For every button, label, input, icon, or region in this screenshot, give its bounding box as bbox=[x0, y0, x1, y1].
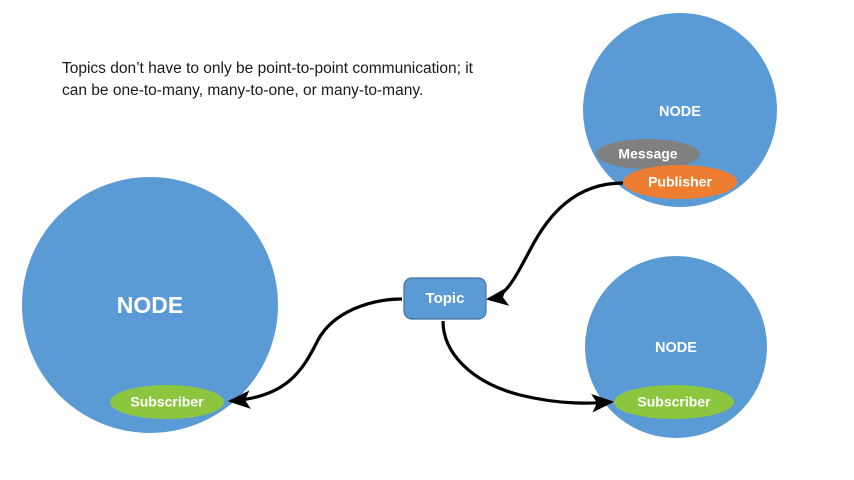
message-bubble-label: Message bbox=[618, 146, 677, 162]
publisher-label: Publisher bbox=[648, 174, 712, 190]
subscriber-left-pill[interactable]: Subscriber bbox=[110, 385, 224, 419]
topic-box[interactable]: Topic bbox=[404, 278, 486, 319]
diagram-canvas: Topics don’t have to only be point-to-po… bbox=[0, 0, 854, 480]
message-bubble[interactable]: Message bbox=[596, 139, 700, 169]
node-bottom-right-label: NODE bbox=[655, 340, 697, 356]
subscriber-bottom-right-pill[interactable]: Subscriber bbox=[614, 385, 734, 419]
subscriber-bottom-right-label: Subscriber bbox=[637, 394, 711, 410]
arrow-topic-to-subscriber-bottom-right bbox=[443, 321, 611, 403]
diagram-graphic: NODE NODE NODE Message Publisher Subscri… bbox=[0, 0, 854, 480]
node-top-right-label: NODE bbox=[659, 104, 701, 120]
topic-box-label: Topic bbox=[426, 290, 465, 307]
arrow-publisher-to-topic bbox=[489, 183, 623, 299]
subscriber-left-label: Subscriber bbox=[130, 394, 204, 410]
node-left-label: NODE bbox=[117, 292, 183, 318]
publisher-pill[interactable]: Publisher bbox=[623, 165, 737, 199]
